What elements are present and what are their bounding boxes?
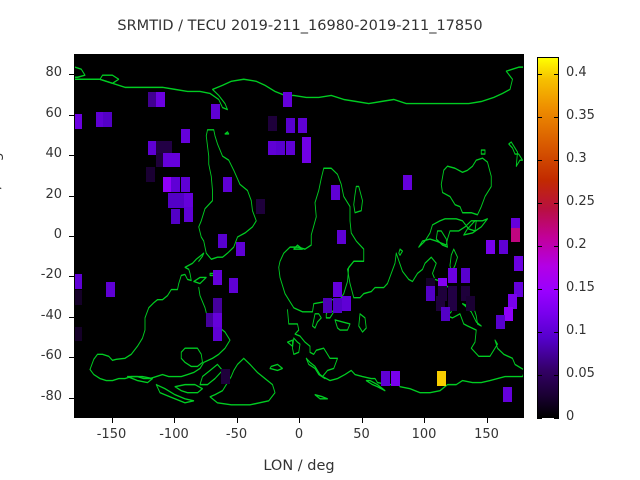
heatmap-cell (302, 149, 311, 164)
colorbar-tick-label: 0.35 (566, 108, 595, 123)
heatmap-cell (298, 118, 307, 133)
x-axis-label: LON / deg (0, 458, 598, 474)
colorbar-tick-mark (537, 332, 542, 333)
heatmap-cell (211, 104, 220, 119)
heatmap-cell (181, 177, 190, 192)
colorbar-tick-mark (554, 203, 559, 204)
heatmap-cell (514, 256, 523, 271)
colorbar-tick-mark (537, 375, 542, 376)
heatmap-cell (333, 298, 342, 313)
x-tick-label: 0 (269, 427, 329, 442)
colorbar-tick-mark (554, 117, 559, 118)
x-tick-label: -100 (144, 427, 204, 442)
heatmap-cell (448, 268, 457, 283)
colorbar-tick-mark (537, 289, 542, 290)
y-axis-label: LAT / deg (0, 152, 4, 220)
heatmap-cell (156, 92, 165, 107)
heatmap-cell (181, 129, 190, 144)
heatmap-cell (171, 177, 180, 192)
y-tick-mark (69, 317, 74, 318)
heatmap-cell (391, 371, 400, 386)
heatmap-cell (331, 185, 340, 200)
heatmap-cell (213, 270, 222, 285)
x-tick-mark (424, 418, 425, 423)
chart-root: SRMTID / TECU 2019-211_16980-2019-211_17… (0, 0, 640, 480)
x-tick-mark (362, 418, 363, 423)
x-tick-mark (174, 418, 175, 423)
x-tick-label: 150 (457, 427, 517, 442)
heatmap-cell (337, 230, 346, 245)
heatmap-cell (74, 114, 82, 129)
colorbar-tick-label: 0.1 (566, 323, 587, 338)
y-tick-label: 40 (22, 146, 62, 161)
heatmap-cell (74, 327, 82, 342)
y-tick-label: -40 (22, 308, 62, 323)
colorbar-tick-label: 0.2 (566, 237, 587, 252)
heatmap-cell (184, 193, 193, 208)
heatmap-cell (504, 307, 513, 322)
x-tick-label: -150 (82, 427, 142, 442)
heatmap-cell (511, 228, 520, 243)
y-tick-mark (69, 155, 74, 156)
colorbar-tick-mark (537, 418, 542, 419)
colorbar (537, 57, 559, 418)
colorbar-gradient (538, 58, 558, 417)
heatmap-cell (213, 313, 222, 328)
x-tick-label: 50 (332, 427, 392, 442)
heatmap-cell (106, 282, 115, 297)
heatmap-cell (486, 240, 495, 255)
heatmap-cell (103, 112, 112, 127)
y-tick-label: 80 (22, 65, 62, 80)
heatmap-cell (403, 175, 412, 190)
colorbar-tick-mark (554, 418, 559, 419)
heatmap-cell (213, 327, 222, 342)
y-tick-mark (69, 276, 74, 277)
heatmap-cell (236, 242, 245, 257)
x-tick-mark (487, 418, 488, 423)
heatmap-cell (171, 209, 180, 224)
chart-title: SRMTID / TECU 2019-211_16980-2019-211_17… (0, 18, 600, 34)
heatmap-cell (342, 296, 351, 311)
heatmap-cell (499, 240, 508, 255)
y-tick-mark (69, 236, 74, 237)
heatmap-cell (426, 286, 435, 301)
heatmap-cell (276, 141, 285, 156)
colorbar-tick-label: 0.25 (566, 194, 595, 209)
y-tick-label: -80 (22, 389, 62, 404)
colorbar-tick-mark (537, 117, 542, 118)
y-tick-label: 60 (22, 106, 62, 121)
heatmap-cell (223, 177, 232, 192)
map-plot-area (74, 54, 524, 418)
heatmap-cell (74, 290, 82, 305)
colorbar-tick-mark (554, 160, 559, 161)
heatmap-cell (381, 371, 390, 386)
heatmap-cell (286, 118, 295, 133)
colorbar-tick-label: 0.3 (566, 151, 587, 166)
heatmap-cell (283, 92, 292, 107)
heatmap-cell (213, 298, 222, 313)
colorbar-tick-mark (537, 74, 542, 75)
data-cells-layer (75, 55, 524, 418)
colorbar-tick-mark (537, 160, 542, 161)
y-tick-mark (69, 196, 74, 197)
heatmap-cell (229, 278, 238, 293)
y-tick-mark (69, 115, 74, 116)
colorbar-tick-mark (554, 375, 559, 376)
y-tick-label: -20 (22, 267, 62, 282)
colorbar-tick-label: 0.4 (566, 65, 587, 80)
y-tick-mark (69, 74, 74, 75)
x-tick-mark (112, 418, 113, 423)
y-tick-mark (69, 398, 74, 399)
y-tick-mark (69, 357, 74, 358)
heatmap-cell (323, 298, 332, 313)
heatmap-cell (268, 116, 277, 131)
heatmap-cell (256, 199, 265, 214)
y-tick-label: -60 (22, 348, 62, 363)
colorbar-tick-label: 0 (566, 409, 574, 424)
heatmap-cell (461, 268, 470, 283)
x-tick-label: 100 (394, 427, 454, 442)
colorbar-tick-mark (537, 203, 542, 204)
colorbar-tick-mark (554, 74, 559, 75)
y-tick-label: 20 (22, 187, 62, 202)
x-tick-mark (237, 418, 238, 423)
heatmap-cell (286, 141, 295, 156)
x-tick-mark (299, 418, 300, 423)
heatmap-cell (218, 234, 227, 249)
heatmap-cell (466, 296, 475, 311)
heatmap-cell (146, 167, 155, 182)
colorbar-tick-label: 0.05 (566, 366, 595, 381)
colorbar-tick-mark (554, 289, 559, 290)
heatmap-cell (441, 307, 450, 322)
colorbar-tick-mark (554, 246, 559, 247)
x-tick-label: -50 (207, 427, 267, 442)
colorbar-tick-mark (554, 332, 559, 333)
heatmap-cell (74, 274, 82, 289)
heatmap-cell (437, 371, 446, 386)
heatmap-cell (503, 387, 512, 402)
colorbar-tick-label: 0.15 (566, 280, 595, 295)
heatmap-cell (333, 282, 342, 297)
colorbar-tick-mark (537, 246, 542, 247)
heatmap-cell (221, 369, 230, 384)
heatmap-cell (184, 207, 193, 222)
heatmap-cell (496, 315, 505, 330)
y-tick-label: 0 (22, 227, 62, 242)
heatmap-cell (171, 153, 180, 168)
